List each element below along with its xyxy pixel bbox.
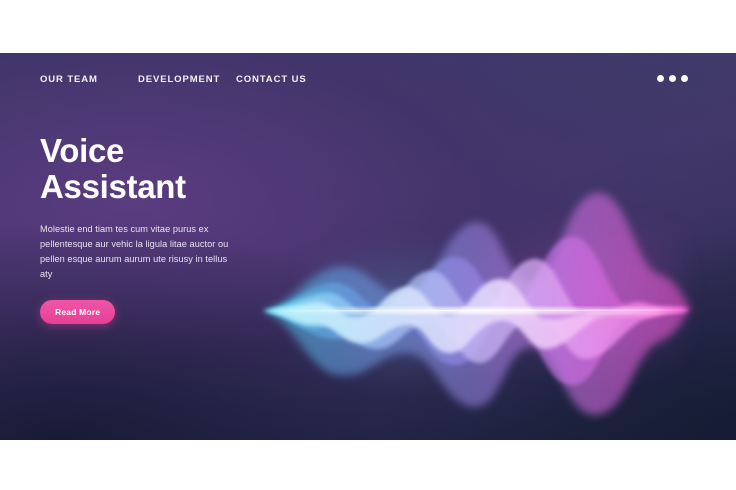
hero-description: Molestie end tiam tes cum vitae purus ex… <box>40 222 230 282</box>
nav-item-contact-us[interactable]: CONTACT US <box>236 74 307 85</box>
page-title-line-1: Voice <box>40 133 255 169</box>
menu-dot-3 <box>681 75 688 82</box>
nav-item-development[interactable]: DEVELOPMENT <box>138 74 220 85</box>
read-more-button[interactable]: Read More <box>40 300 115 324</box>
page-title: Voice Assistant <box>40 133 255 204</box>
menu-dot-1 <box>657 75 664 82</box>
three-dots-icon[interactable] <box>657 75 688 82</box>
landing-page: OUR TEAM DEVELOPMENT CONTACT US Voice As… <box>0 0 736 490</box>
page-title-line-2: Assistant <box>40 169 255 205</box>
hero-banner: OUR TEAM DEVELOPMENT CONTACT US Voice As… <box>0 53 736 440</box>
hero-copy-block: Voice Assistant Molestie end tiam tes cu… <box>40 133 255 324</box>
main-navigation: OUR TEAM DEVELOPMENT CONTACT US <box>40 69 307 87</box>
nav-slot-1: DEVELOPMENT <box>138 69 236 87</box>
nav-item-our-team[interactable]: OUR TEAM <box>40 74 98 85</box>
voice-waveform-illustration <box>246 163 706 440</box>
nav-slot-0: OUR TEAM <box>40 69 138 87</box>
menu-dot-2 <box>669 75 676 82</box>
nav-slot-2: CONTACT US <box>236 69 307 87</box>
